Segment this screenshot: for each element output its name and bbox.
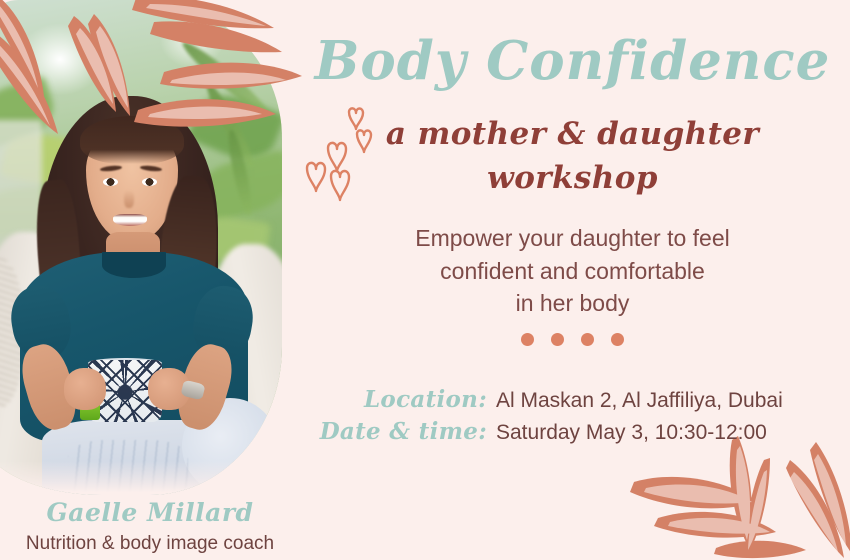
tagline-line-3: in her body [300, 287, 845, 320]
poster-canvas: Body Confidence a mother & daughter work… [0, 0, 850, 560]
divider-dot [581, 333, 594, 346]
photo-bottom-fade [0, 461, 282, 495]
coach-role: Nutrition & body image coach [0, 533, 300, 555]
datetime-value: Saturday May 3, 10:30-12:00 [496, 421, 767, 445]
eye-right [142, 178, 157, 186]
detail-row-location: Location: Al Maskan 2, Al Jaffiliya, Dub… [300, 386, 840, 413]
nose [124, 190, 134, 208]
subtitle-line-2: workshop [300, 156, 845, 200]
coach-name: Gaelle Millard [0, 498, 300, 527]
divider-dot [611, 333, 624, 346]
divider-dot [521, 333, 534, 346]
divider-dot [551, 333, 564, 346]
event-details: Location: Al Maskan 2, Al Jaffiliya, Dub… [300, 386, 840, 450]
detail-row-datetime: Date & time: Saturday May 3, 10:30-12:00 [300, 418, 840, 445]
tagline-line-2: confident and comfortable [300, 255, 845, 288]
datetime-label: Date & time: [300, 418, 496, 445]
tshirt-collar [102, 252, 166, 278]
dot-divider [300, 333, 845, 346]
smile [113, 214, 147, 226]
hand-left [64, 368, 106, 410]
location-label: Location: [300, 386, 496, 413]
page-subtitle: a mother & daughter workshop [300, 112, 845, 200]
subtitle-line-1: a mother & daughter [300, 112, 845, 156]
tagline-line-1: Empower your daughter to feel [300, 222, 845, 255]
eye-left [103, 178, 118, 186]
coach-photo [0, 0, 282, 495]
location-value: Al Maskan 2, Al Jaffiliya, Dubai [496, 389, 783, 413]
tagline: Empower your daughter to feel confident … [300, 222, 845, 320]
hair-fringe [80, 116, 184, 164]
leaf-cluster-bottom-right-icon [620, 432, 850, 560]
photo-clip-shape [0, 0, 282, 495]
page-title: Body Confidence [300, 34, 845, 89]
